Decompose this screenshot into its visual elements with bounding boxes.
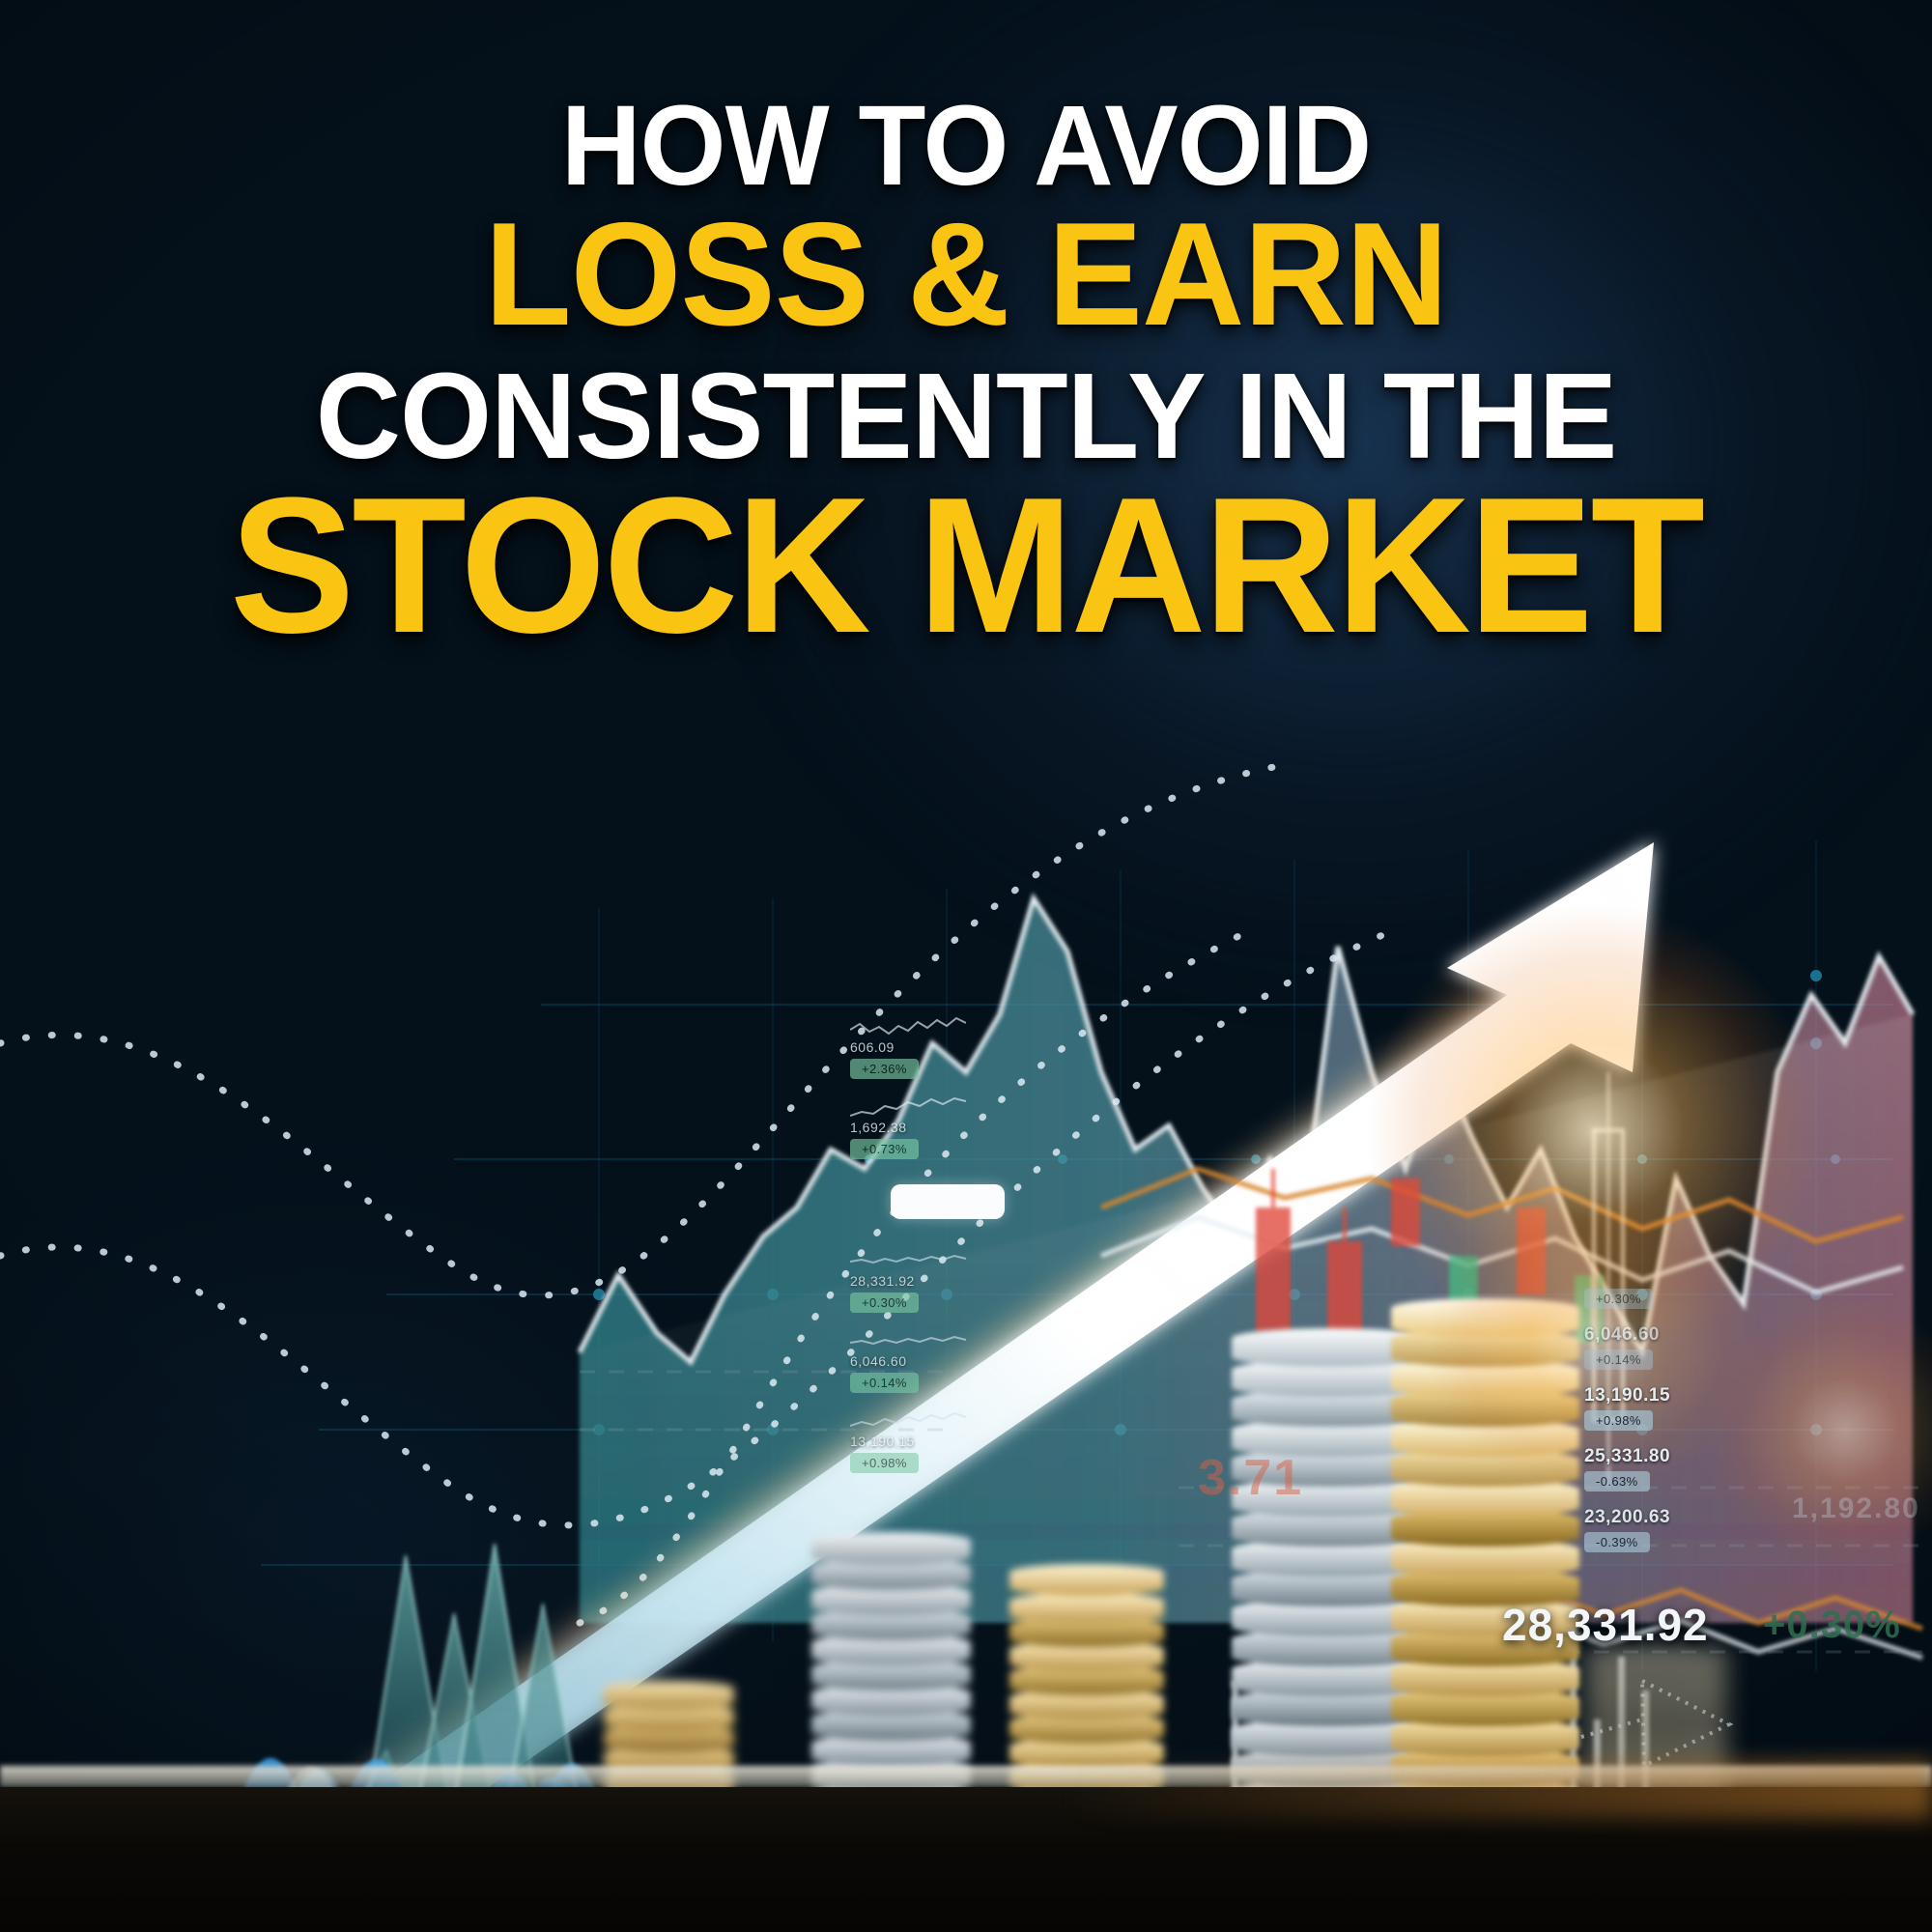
ticker-value: 25,331.80 bbox=[1584, 1446, 1670, 1467]
ticker-row[interactable]: 606.09 +2.36% bbox=[850, 1014, 1005, 1079]
ticker-value: 23,200.63 bbox=[1584, 1507, 1670, 1528]
ghost-index-quote: 1,192.80 bbox=[1792, 1492, 1920, 1525]
ticker-value: 13,190.15 bbox=[1584, 1385, 1670, 1406]
ticker-row[interactable]: 6,046.60 +0.14% bbox=[850, 1328, 1005, 1393]
ticker-row-highlight[interactable] bbox=[891, 1184, 1005, 1219]
ticker-change-badge: +0.73% bbox=[850, 1139, 919, 1159]
ticker-change-badge: +0.98% bbox=[850, 1453, 919, 1473]
ticker-value: 1,692.38 bbox=[850, 1120, 1005, 1135]
feature-index-change: +0.30% bbox=[1763, 1604, 1901, 1647]
ticker-value: 28,331.92 bbox=[850, 1273, 1005, 1289]
ticker-change-badge: +0.30% bbox=[1584, 1289, 1653, 1309]
sparkline-icon bbox=[850, 1408, 966, 1434]
ticker-change-badge: -0.63% bbox=[1584, 1471, 1650, 1492]
ticker-row[interactable]: 28,331.92 +0.30% bbox=[850, 1248, 1005, 1313]
ticker-row[interactable]: 13,190.15 +0.98% bbox=[850, 1408, 1005, 1473]
headline-line-1: HOW TO AVOID bbox=[132, 93, 1801, 200]
ticker-change-badge: +0.14% bbox=[850, 1373, 919, 1393]
ticker-value: 606.09 bbox=[850, 1039, 1005, 1055]
ticker-change-badge: +0.98% bbox=[1584, 1410, 1653, 1431]
ghost-mid-number: 3.71 bbox=[1198, 1449, 1303, 1507]
ticker-change-badge: +0.30% bbox=[850, 1293, 919, 1313]
teal-peak-histogram bbox=[357, 1544, 580, 1806]
ticker-change-badge: +0.14% bbox=[1584, 1350, 1653, 1370]
hud-ticker-list-right: +0.30% 6,046.60 +0.14% 13,190.15 +0.98% … bbox=[1584, 1285, 1670, 1568]
hud-ticker-list-left: 606.09 +2.36% 1,692.38 +0.73% 28,331.92 … bbox=[850, 1014, 1005, 1489]
sparkline-icon bbox=[850, 1248, 966, 1273]
poster-canvas: 606.09 +2.36% 1,692.38 +0.73% 28,331.92 … bbox=[0, 0, 1932, 1932]
ticker-row[interactable]: +0.30% bbox=[1584, 1285, 1670, 1309]
ticker-change-badge: +2.36% bbox=[850, 1059, 919, 1079]
headline-line-3: CONSISTENTLY IN THE bbox=[132, 359, 1801, 473]
ticker-value: 6,046.60 bbox=[850, 1353, 1005, 1369]
sparkline-icon bbox=[850, 1014, 966, 1039]
headline-line-2: LOSS & EARN bbox=[132, 206, 1801, 344]
headline-line-4: STOCK MARKET bbox=[132, 475, 1801, 657]
ticker-value: 13,190.15 bbox=[850, 1434, 1005, 1449]
feature-index-quote: 28,331.92 bbox=[1502, 1599, 1709, 1651]
poster-headline: HOW TO AVOID LOSS & EARN CONSISTENTLY IN… bbox=[0, 93, 1932, 657]
ticker-row[interactable]: 23,200.63 -0.39% bbox=[1584, 1507, 1670, 1552]
sparkline-icon bbox=[850, 1094, 966, 1120]
ticker-row[interactable]: 25,331.80 -0.63% bbox=[1584, 1446, 1670, 1492]
ticker-row[interactable]: 1,692.38 +0.73% bbox=[850, 1094, 1005, 1159]
ticker-change-badge: -0.39% bbox=[1584, 1532, 1650, 1552]
sparkline-icon bbox=[850, 1328, 966, 1353]
ticker-row[interactable]: 6,046.60 +0.14% bbox=[1584, 1324, 1670, 1370]
ticker-value: 6,046.60 bbox=[1584, 1324, 1670, 1346]
ticker-row[interactable]: 13,190.15 +0.98% bbox=[1584, 1385, 1670, 1431]
